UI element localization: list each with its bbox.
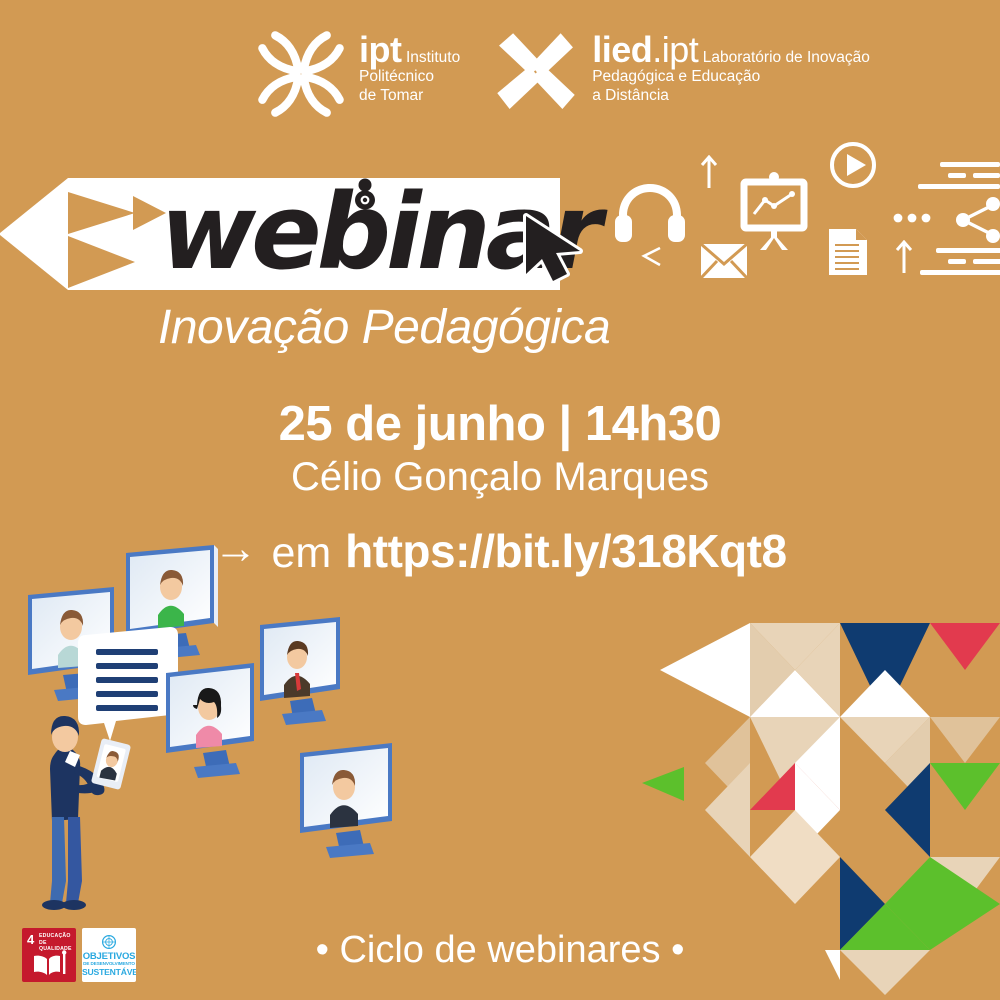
- text-lines-icon: [920, 248, 1000, 285]
- logo-lied-title: lied.ipt: [592, 29, 698, 70]
- event-speaker: Célio Gonçalo Marques: [0, 455, 1000, 500]
- more-dots-icon: [893, 210, 931, 228]
- share-nodes-icon: [638, 245, 664, 274]
- logo-lied-text: lied.ipt Laboratório de Inovação Pedagóg…: [592, 28, 870, 106]
- logo-ipt-sub-3: de Tomar: [359, 87, 423, 104]
- header-logos: ipt Instituto Politécnico de Tomar: [255, 28, 870, 125]
- logo-ipt-text: ipt Instituto Politécnico de Tomar: [359, 28, 460, 106]
- camera-dot-icon: [350, 176, 376, 206]
- sdg-goal-number: 4: [27, 933, 34, 946]
- sdg-brand-line-3: SUSTENTÁVEL: [82, 967, 136, 977]
- logo-ipt-sub-1: Instituto: [406, 49, 460, 66]
- event-datetime: 25 de junho | 14h30: [0, 396, 1000, 452]
- logo-lied-sub-3: a Distância: [592, 87, 669, 104]
- logo-lied-sub-1: Laboratório de Inovação: [703, 49, 870, 66]
- lied-pinwheel-mark-icon: [492, 28, 580, 121]
- headphones-icon: [615, 182, 685, 249]
- ipt-cross-mark-icon: [255, 28, 347, 125]
- share-nodes-icon: [955, 196, 1000, 249]
- logo-lied: lied.ipt Laboratório de Inovação Pedagóg…: [492, 28, 870, 121]
- webinar-subtitle: Inovação Pedagógica: [158, 300, 610, 355]
- monitor-screen: [166, 663, 254, 778]
- mouse-cursor-icon: [520, 212, 598, 289]
- envelope-icon: [700, 243, 748, 284]
- arrow-up-icon: [895, 240, 913, 279]
- logo-ipt: ipt Instituto Politécnico de Tomar: [255, 28, 460, 125]
- triangle-mosaic: [640, 595, 1000, 1000]
- webinar-poster: ipt Instituto Politécnico de Tomar: [0, 0, 1000, 1000]
- presentation-chart-icon: [740, 172, 808, 255]
- logo-lied-sub-2: Pedagógica e Educação: [592, 68, 760, 85]
- logo-ipt-title: ipt: [359, 29, 401, 70]
- sdg-badge-goal-4: 4 EDUCAÇÃODE QUALIDADE: [22, 928, 76, 982]
- presenter-figure: [42, 716, 131, 910]
- monitor-screen: [300, 743, 392, 858]
- document-icon: [828, 228, 868, 281]
- monitor-screen: [260, 617, 340, 725]
- sdg-brand-line-2: DE DESENVOLVIMENTO: [82, 961, 136, 966]
- sdg-badges: 4 EDUCAÇÃODE QUALIDADE OBJETIVOS DE DES: [22, 928, 136, 982]
- play-circle-icon: [828, 140, 878, 195]
- logo-ipt-sub-2: Politécnico: [359, 68, 434, 85]
- text-lines-icon: [918, 162, 1000, 199]
- video-conference-illustration: [18, 545, 418, 920]
- sdg-badge-brand: OBJETIVOS DE DESENVOLVIMENTO SUSTENTÁVEL: [82, 928, 136, 982]
- arrow-up-icon: [700, 155, 718, 194]
- chat-bubble: [78, 627, 178, 741]
